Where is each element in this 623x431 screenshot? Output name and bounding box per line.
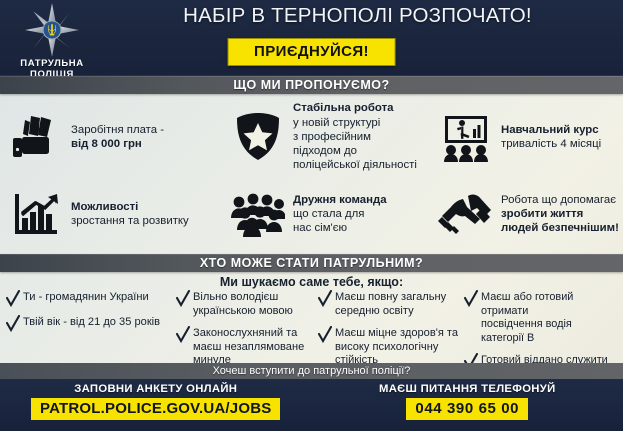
offer-line-1: Навчальний курс [501, 123, 601, 137]
brand-block: ПАТРУЛЬНА ПОЛІЦІЯ [4, 2, 100, 76]
offer-item-stable-job: Стабільна робота у новій структурі з про… [222, 101, 430, 172]
list-item: Маєш міцне здоров'я та високу психологіч… [318, 327, 460, 368]
requirement-line-2: українською мовою [193, 305, 293, 317]
offer-line-5: поліцейської діяльності [293, 158, 417, 172]
checkmark-icon [176, 290, 190, 307]
join-cta-button[interactable]: ПРИЄДНУЙСЯ! [227, 38, 396, 66]
footer-website-link[interactable]: PATROL.POLICE.GOV.UA/JOBS [31, 398, 280, 420]
offers-row-2: Можливості зростання та розвитку [0, 176, 623, 252]
police-star-badge-icon [24, 2, 80, 58]
offer-line-2: зробити життя [501, 207, 619, 221]
offer-item-salary: Заробітня плата - від 8 000 грн [0, 109, 222, 165]
requirement-line-1: Маєш міцне здоров'я та [335, 327, 458, 339]
checkmark-icon [464, 290, 478, 307]
footer-online-label: ЗАПОВНИ АНКЕТУ ОНЛАЙН [0, 383, 312, 395]
footer-phone-label: МАЄШ ПИТАННЯ ТЕЛЕФОНУЙ [312, 383, 623, 395]
requirement-line-1: Законослухняний та [193, 327, 297, 339]
list-item: Маєш або готовий отримати посвідчення во… [464, 291, 617, 345]
footer-phone-number[interactable]: 044 390 65 00 [406, 398, 528, 420]
offers-row-1: Заробітня плата - від 8 000 грн Стабільн… [0, 98, 623, 176]
offer-line-1: Стабільна робота [293, 101, 417, 115]
offer-line-1: Заробітня плата - [71, 124, 164, 136]
offer-line-2: у новій структурі [293, 116, 417, 130]
requirement-text: Маєш або готовий отримати посвідчення во… [481, 291, 617, 345]
list-item: Законослухняний та маєш незаплямоване ми… [176, 327, 314, 368]
offer-text: Стабільна робота у новій структурі з про… [293, 101, 417, 172]
offer-line-1: Дружня команда [293, 193, 387, 207]
offer-text: Заробітня плата - від 8 000 грн [71, 123, 164, 151]
checkmark-icon [6, 315, 20, 332]
checkmark-icon [6, 290, 20, 307]
offer-line-4: підходом до [293, 144, 417, 158]
offer-text: Можливості зростання та розвитку [71, 200, 189, 228]
requirement-line-2: високу психологічну [335, 341, 438, 353]
candidates-section-header: ХТО МОЖЕ СТАТИ ПАТРУЛЬНИМ? [0, 254, 623, 272]
poster-footer: ЗАПОВНИ АНКЕТУ ОНЛАЙН PATROL.POLICE.GOV.… [0, 379, 623, 431]
offers-section-header: ЩО МИ ПРОПОНУЄМО? [0, 76, 623, 94]
requirement-line-1: Вільно володієш [193, 291, 278, 303]
checkmark-icon [176, 326, 190, 343]
offer-item-safer-life: Робота що допомагає зробити життя людей … [430, 186, 623, 242]
offers-grid: Заробітня плата - від 8 000 грн Стабільн… [0, 94, 623, 254]
training-presentation-icon [438, 109, 494, 165]
requirement-line-2: маєш незаплямоване [193, 341, 304, 353]
requirement-line-2: середню освіту [335, 305, 414, 317]
list-item: Твій вік - від 21 до 35 років [6, 316, 172, 332]
recruitment-poster: ПАТРУЛЬНА ПОЛІЦІЯ НАБІР В ТЕРНОПОЛІ РОЗП… [0, 0, 623, 431]
poster-header: ПАТРУЛЬНА ПОЛІЦІЯ НАБІР В ТЕРНОПОЛІ РОЗП… [0, 0, 623, 76]
requirement-text: Вільно володієш українською мовою [193, 291, 293, 318]
requirement-line-2: посвідчення водія категорії В [481, 318, 572, 344]
team-group-people-icon [230, 186, 286, 242]
list-item: Вільно володієш українською мовою [176, 291, 314, 318]
offer-line-2: тривалість 4 місяці [501, 137, 601, 151]
list-item: Маєш повну загальну середню освіту [318, 291, 460, 318]
requirement-line-1: Маєш повну загальну [335, 291, 446, 303]
handshake-icon [438, 186, 494, 242]
footer-online-cell: ЗАПОВНИ АНКЕТУ ОНЛАЙН PATROL.POLICE.GOV.… [0, 379, 312, 431]
checkmark-icon [318, 290, 332, 307]
offer-line-3: людей безпечнішим! [501, 221, 619, 235]
offer-text: Дружня команда що стала для нас сім'єю [293, 193, 387, 236]
requirement-line-1: Маєш або готовий отримати [481, 291, 573, 317]
growth-chart-icon [8, 186, 64, 242]
requirement-text: Маєш міцне здоров'я та високу психологіч… [335, 327, 458, 368]
offer-line-3: нас сім'єю [293, 221, 387, 235]
brand-line-1: ПАТРУЛЬНА [4, 58, 100, 69]
footer-phone-cell: МАЄШ ПИТАННЯ ТЕЛЕФОНУЙ 044 390 65 00 [312, 379, 623, 431]
page-title: НАБІР В ТЕРНОПОЛІ РОЗПОЧАТО! [100, 4, 615, 28]
offer-line-1: Можливості [71, 200, 189, 214]
offer-text: Робота що допомагає зробити життя людей … [501, 193, 619, 236]
candidates-subtitle: Ми шукаємо саме тебе, якщо: [0, 272, 623, 291]
requirement-text: Законослухняний та маєш незаплямоване ми… [193, 327, 304, 368]
offer-line-2: зростання та розвитку [71, 214, 189, 228]
offer-item-growth: Можливості зростання та розвитку [0, 186, 222, 242]
offer-item-training: Навчальний курс тривалість 4 місяці [430, 109, 623, 165]
checkmark-icon [318, 326, 332, 343]
offer-line-3: з професійним [293, 130, 417, 144]
money-cash-icon [8, 109, 64, 165]
list-item: Ти - громадянин України [6, 291, 172, 307]
brand-line-2: ПОЛІЦІЯ [4, 69, 100, 76]
requirement-text: Маєш повну загальну середню освіту [335, 291, 446, 318]
offer-item-team: Дружня команда що стала для нас сім'єю [222, 186, 430, 242]
offer-text: Навчальний курс тривалість 4 місяці [501, 123, 601, 151]
offer-line-2: що стала для [293, 207, 387, 221]
footer-question-bar: Хочеш вступити до патрульної поліції? [0, 363, 623, 379]
requirement-text: Твій вік - від 21 до 35 років [23, 316, 160, 330]
offer-line-1: Робота що допомагає [501, 194, 616, 206]
offer-line-2: від 8 000 грн [71, 137, 164, 151]
police-shield-star-icon [230, 109, 286, 165]
requirement-text: Ти - громадянин України [23, 291, 149, 305]
